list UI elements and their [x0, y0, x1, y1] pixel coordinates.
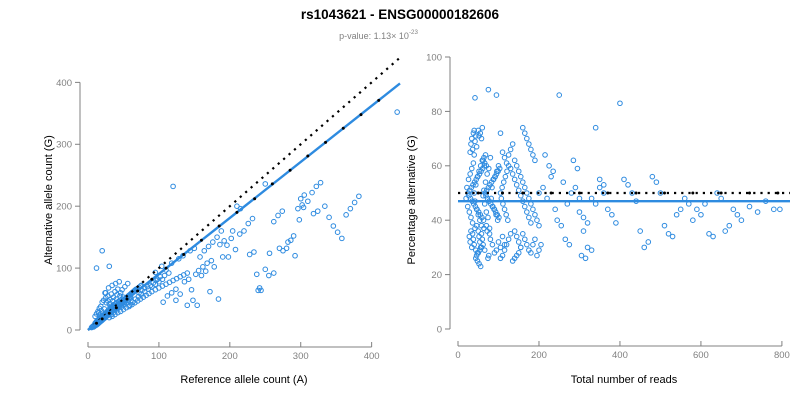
figure-subtitle: p-value: 1.13× 10 -23	[339, 29, 418, 41]
highlight-point	[748, 192, 751, 195]
left-y-tick-label: 0	[67, 325, 72, 336]
right-x-tick-label: 800	[774, 350, 790, 361]
right-y-tick-label: 80	[431, 107, 442, 118]
right-x-tick-label: 600	[693, 350, 709, 361]
figure-container: rs1043621 - ENSG00000182606 p-value: 1.1…	[0, 0, 800, 400]
highlight-point	[108, 312, 111, 315]
highlight-point	[776, 192, 779, 195]
highlight-point	[235, 211, 238, 214]
highlight-point	[521, 192, 524, 195]
highlight-point	[115, 306, 118, 309]
highlight-point	[182, 253, 185, 256]
scatter-plot-figure: rs1043621 - ENSG00000182606 p-value: 1.1…	[0, 0, 800, 400]
right-y-tick-label: 0	[437, 324, 442, 335]
left-y-tick-label: 200	[56, 202, 72, 213]
highlight-point	[126, 298, 129, 301]
right-y-tick-label: 100	[426, 52, 442, 63]
left-x-tick-label: 100	[151, 351, 167, 362]
right-y-tick-label: 60	[431, 161, 442, 172]
highlight-point	[253, 197, 256, 200]
left-y-tick-label: 100	[56, 263, 72, 274]
highlight-point	[360, 113, 363, 116]
right-y-tick-label: 20	[431, 270, 442, 281]
figure-title: rs1043621 - ENSG00000182606	[301, 7, 500, 22]
highlight-point	[165, 267, 168, 270]
highlight-point	[136, 290, 139, 293]
right-y-tick-label: 40	[431, 216, 442, 227]
highlight-point	[691, 192, 694, 195]
highlight-point	[95, 322, 98, 325]
right-x-axis-label: Total number of reads	[571, 374, 678, 386]
highlight-point	[218, 225, 221, 228]
left-x-axis-label: Reference allele count (A)	[180, 374, 307, 386]
right-x-tick-label: 0	[455, 350, 460, 361]
subtitle-pvalue-text: p-value: 1.13× 10	[339, 31, 409, 41]
left-x-tick-label: 0	[85, 351, 90, 362]
highlight-point	[306, 155, 309, 158]
highlight-point	[550, 192, 553, 195]
left-y-axis-label: Alternative allele count (G)	[43, 135, 55, 265]
left-y-tick-label: 400	[56, 78, 72, 89]
subtitle-exponent: -23	[409, 29, 419, 36]
left-x-tick-label: 300	[293, 351, 309, 362]
highlight-point	[720, 192, 723, 195]
highlight-point	[289, 169, 292, 172]
highlight-point	[150, 278, 153, 281]
right-x-tick-label: 400	[612, 350, 628, 361]
highlight-point	[271, 182, 274, 185]
highlight-point	[635, 192, 638, 195]
highlight-point	[101, 317, 104, 320]
left-x-tick-label: 200	[222, 351, 238, 362]
highlight-point	[663, 192, 666, 195]
highlight-point	[342, 127, 345, 130]
highlight-point	[477, 192, 480, 195]
highlight-point	[501, 192, 504, 195]
highlight-point	[324, 141, 327, 144]
right-y-axis-label: Percentage alternative (G)	[406, 135, 418, 264]
left-x-tick-label: 400	[364, 351, 380, 362]
left-y-tick-label: 300	[56, 140, 72, 151]
highlight-point	[606, 192, 609, 195]
highlight-point	[578, 192, 581, 195]
right-x-tick-label: 200	[531, 350, 547, 361]
highlight-point	[200, 239, 203, 242]
highlight-point	[377, 99, 380, 102]
